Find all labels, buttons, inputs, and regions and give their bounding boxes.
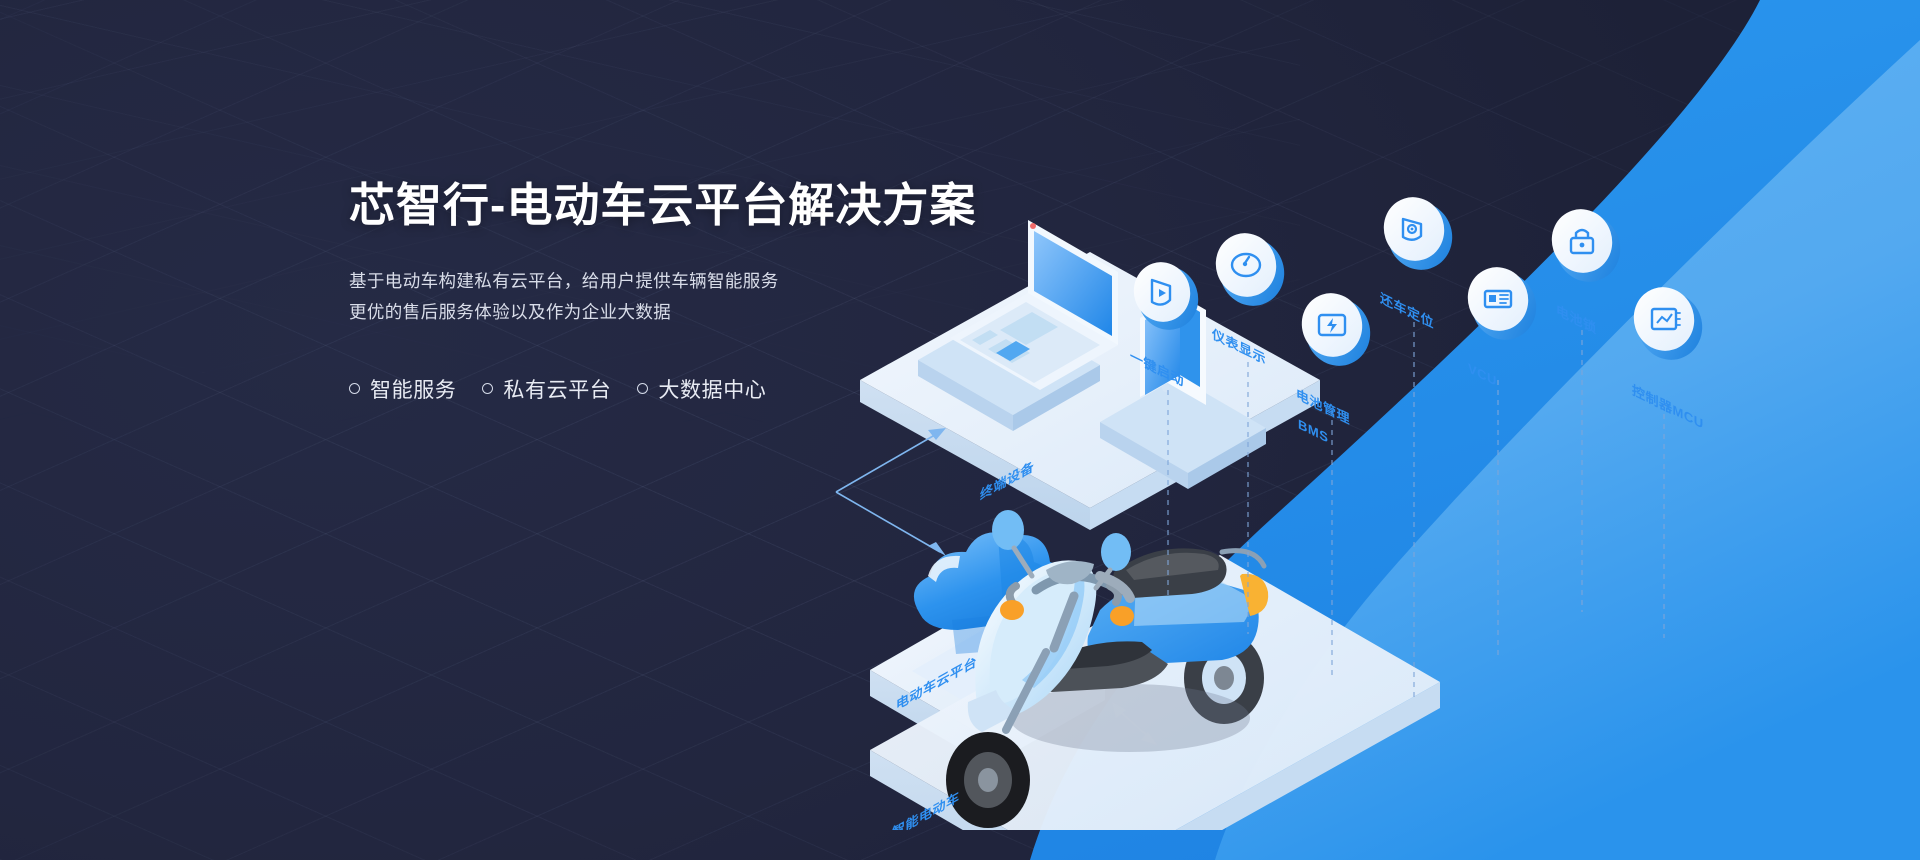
list-item: 大数据中心 <box>637 374 766 404</box>
feature-label-secondary: BMS <box>1298 417 1328 446</box>
feature-badge-vcu[interactable]: VCU <box>1460 259 1545 389</box>
feature-label: 控制器MCU <box>1632 382 1704 432</box>
feature-badge-return-locate[interactable]: 还车定位 <box>1376 190 1461 331</box>
list-item: 私有云平台 <box>482 374 611 404</box>
list-item-label: 智能服务 <box>370 374 456 404</box>
isometric-diagram: 终端设备 电动车云平台 <box>800 190 1920 830</box>
feature-label: 还车定位 <box>1379 289 1434 331</box>
connector-terminal-cloud <box>836 428 946 556</box>
bullet-dot-icon <box>349 383 360 394</box>
list-item: 智能服务 <box>349 374 456 404</box>
list-item-label: 私有云平台 <box>503 374 611 404</box>
feature-badge-bms[interactable]: 电池管理 BMS <box>1294 285 1379 445</box>
feature-label: 电池锁 <box>1556 302 1597 337</box>
feature-badge-mcu[interactable]: 控制器MCU <box>1626 279 1711 431</box>
hero-banner: 芯智行-电动车云平台解决方案 基于电动车构建私有云平台，给用户提供车辆智能服务 … <box>0 0 1920 860</box>
feature-label: VCU <box>1468 361 1497 389</box>
bullet-dot-icon <box>482 383 493 394</box>
bullet-dot-icon <box>637 383 648 394</box>
diagram-svg: 终端设备 电动车云平台 <box>800 190 1920 830</box>
list-item-label: 大数据中心 <box>658 374 766 404</box>
feature-badge-battery-lock[interactable]: 电池锁 <box>1544 201 1629 336</box>
